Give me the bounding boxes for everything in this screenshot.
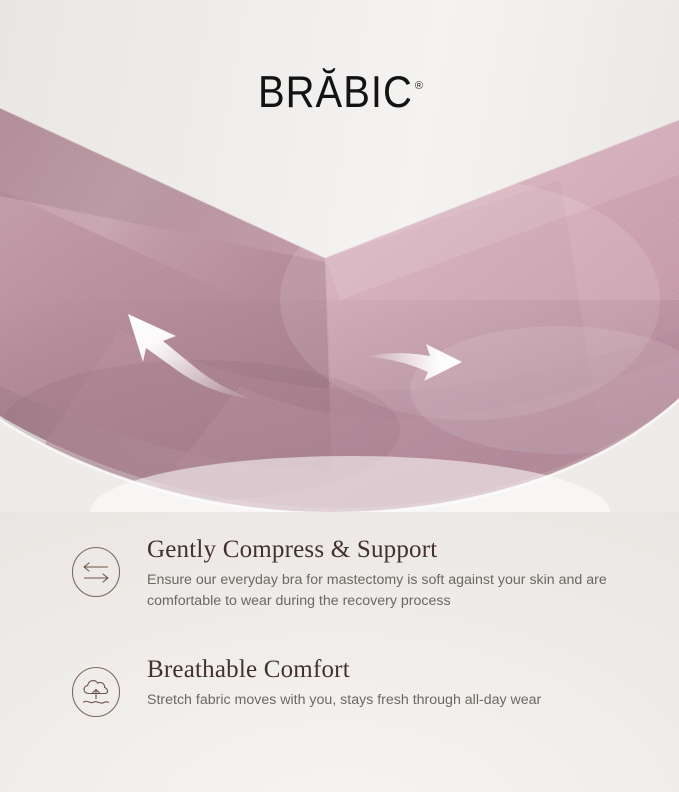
hero-fabric-image: BRĂBIC® xyxy=(0,0,679,512)
breathable-cloud-icon xyxy=(70,666,122,718)
compress-arrows-icon xyxy=(70,546,122,598)
brand-name-text: BRĂBIC xyxy=(258,70,413,115)
brand-logo: BRĂBIC® xyxy=(0,70,679,110)
feature-item: Breathable Comfort Stretch fabric moves … xyxy=(0,656,679,718)
feature-list: Gently Compress & Support Ensure our eve… xyxy=(0,512,679,718)
feature-title: Gently Compress & Support xyxy=(147,536,639,564)
product-feature-page: BRĂBIC® Gently Compress & Support Ensure… xyxy=(0,0,679,792)
feature-title: Breathable Comfort xyxy=(147,656,541,684)
feature-description: Stretch fabric moves with you, stays fre… xyxy=(147,690,541,711)
feature-text-block: Gently Compress & Support Ensure our eve… xyxy=(147,536,639,612)
feature-text-block: Breathable Comfort Stretch fabric moves … xyxy=(147,656,541,711)
feature-item: Gently Compress & Support Ensure our eve… xyxy=(0,536,679,612)
registered-trademark-icon: ® xyxy=(415,80,423,92)
feature-description: Ensure our everyday bra for mastectomy i… xyxy=(147,570,639,612)
